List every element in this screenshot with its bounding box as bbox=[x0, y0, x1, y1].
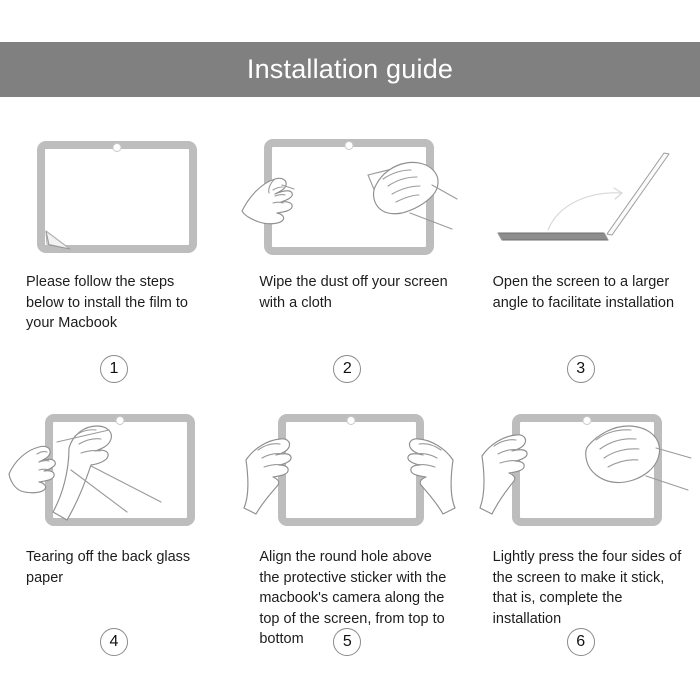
illustration-step-2 bbox=[242, 133, 457, 258]
page-title: Installation guide bbox=[247, 56, 453, 83]
step-description-6: Lightly press the four sides of the scre… bbox=[493, 547, 683, 629]
hands-tearing-paper-icon bbox=[9, 408, 224, 533]
step-number-6: 6 bbox=[567, 628, 595, 656]
laptop-open-angle-icon bbox=[476, 133, 691, 258]
step-description-1: Please follow the steps below to install… bbox=[26, 272, 216, 334]
step-number-label: 4 bbox=[110, 633, 119, 651]
step-number-label: 3 bbox=[576, 360, 585, 378]
step-number-label: 2 bbox=[343, 360, 352, 378]
step-description-4: Tearing off the back glass paper bbox=[26, 547, 216, 588]
illustration-step-5 bbox=[242, 408, 457, 533]
two-hands-gripping-edges-icon bbox=[242, 408, 457, 533]
step-number-4: 4 bbox=[100, 628, 128, 656]
step-number-label: 6 bbox=[576, 633, 585, 651]
step-number-3: 3 bbox=[567, 355, 595, 383]
step-description-2: Wipe the dust off your screen with a clo… bbox=[259, 272, 449, 313]
peeling-film-corner-icon bbox=[9, 133, 224, 258]
step-number-label: 1 bbox=[110, 360, 119, 378]
step-number-5: 5 bbox=[333, 628, 361, 656]
step-number-1: 1 bbox=[100, 355, 128, 383]
hands-and-cloth-icon bbox=[242, 133, 457, 258]
step-card-4: Tearing off the back glass paper 4 bbox=[0, 380, 233, 670]
step-card-3: Open the screen to a larger angle to fac… bbox=[467, 105, 700, 380]
illustration-step-3 bbox=[476, 133, 691, 258]
step-card-1: Please follow the steps below to install… bbox=[0, 105, 233, 380]
illustration-step-4 bbox=[9, 408, 224, 533]
step-card-6: Lightly press the four sides of the scre… bbox=[467, 380, 700, 670]
illustration-step-6 bbox=[476, 408, 691, 533]
step-description-3: Open the screen to a larger angle to fac… bbox=[493, 272, 683, 313]
step-card-5: Align the round hole above the protectiv… bbox=[233, 380, 466, 670]
header-band: Installation guide bbox=[0, 42, 700, 97]
hand-pressing-screen-icon bbox=[476, 408, 691, 533]
steps-grid: Please follow the steps below to install… bbox=[0, 105, 700, 685]
step-card-2: Wipe the dust off your screen with a clo… bbox=[233, 105, 466, 380]
step-number-2: 2 bbox=[333, 355, 361, 383]
step-number-label: 5 bbox=[343, 633, 352, 651]
illustration-step-1 bbox=[9, 133, 224, 258]
